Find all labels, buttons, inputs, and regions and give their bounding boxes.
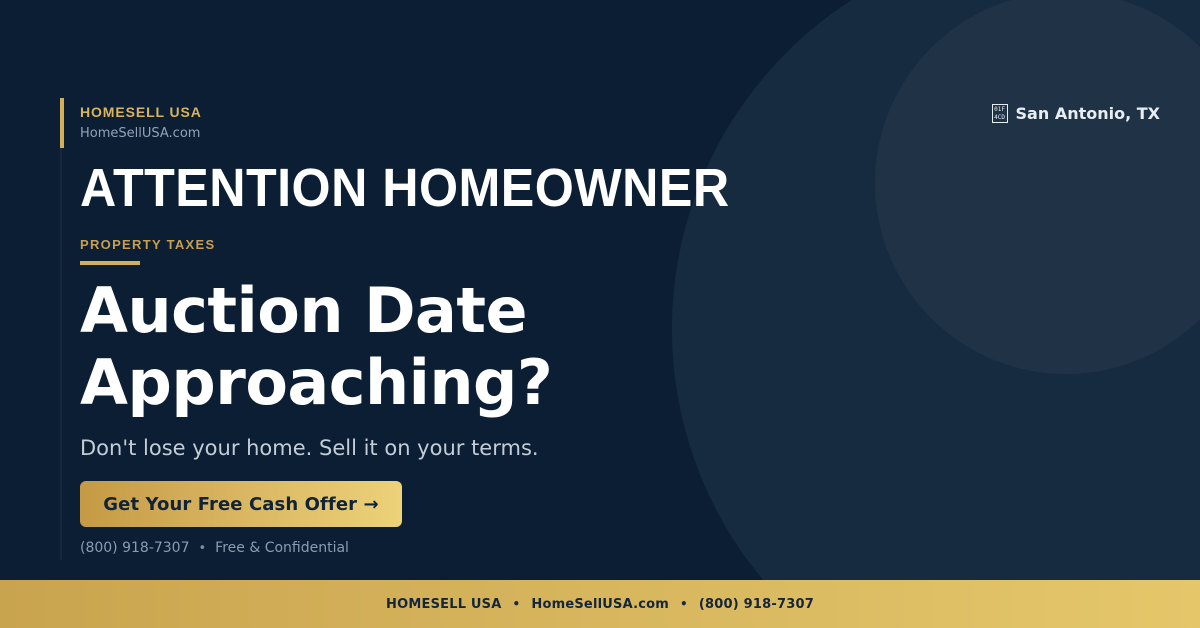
promo-banner: HOMESELL USA HomeSellUSA.com 01F 4CD San… [0, 0, 1200, 628]
attention-headline: ATTENTION HOMEOWNER [80, 158, 730, 218]
trust-note: Free & Confidential [215, 541, 349, 555]
location-badge: 01F 4CD San Antonio, TX [992, 104, 1160, 123]
trust-line: (800) 918-7307 • Free & Confidential [80, 541, 349, 555]
location-label: San Antonio, TX [1016, 106, 1160, 122]
left-accent-rule-gold [60, 98, 64, 148]
eyebrow-label: PROPERTY TAXES [80, 238, 215, 251]
footer-website[interactable]: HomeSellUSA.com [531, 597, 669, 612]
trust-separator-icon: • [199, 542, 207, 555]
footer-content: HOMESELL USA • HomeSellUSA.com • (800) 9… [386, 597, 814, 612]
footer-brand: HOMESELL USA [386, 597, 501, 612]
eyebrow-underline [80, 261, 140, 265]
subheadline: Don't lose your home. Sell it on your te… [80, 436, 539, 461]
footer-bar: HOMESELL USA • HomeSellUSA.com • (800) 9… [0, 580, 1200, 628]
brand-block: HOMESELL USA HomeSellUSA.com [80, 105, 202, 140]
location-pin-icon: 01F 4CD [992, 104, 1008, 123]
tofu-codepoint-bottom: 4CD [993, 114, 1007, 122]
left-accent-rule [60, 98, 62, 560]
tofu-codepoint-top: 01F [993, 106, 1007, 114]
main-headline: Auction Date Approaching? [80, 275, 552, 419]
footer-separator-1-icon: • [513, 597, 521, 611]
cta-offer-button[interactable]: Get Your Free Cash Offer → [80, 481, 402, 527]
brand-website: HomeSellUSA.com [80, 127, 202, 140]
trust-phone[interactable]: (800) 918-7307 [80, 541, 190, 555]
banner-content: HOMESELL USA HomeSellUSA.com 01F 4CD San… [80, 0, 1140, 628]
footer-phone[interactable]: (800) 918-7307 [699, 597, 814, 612]
footer-separator-2-icon: • [680, 597, 688, 611]
brand-name: HOMESELL USA [80, 105, 202, 119]
